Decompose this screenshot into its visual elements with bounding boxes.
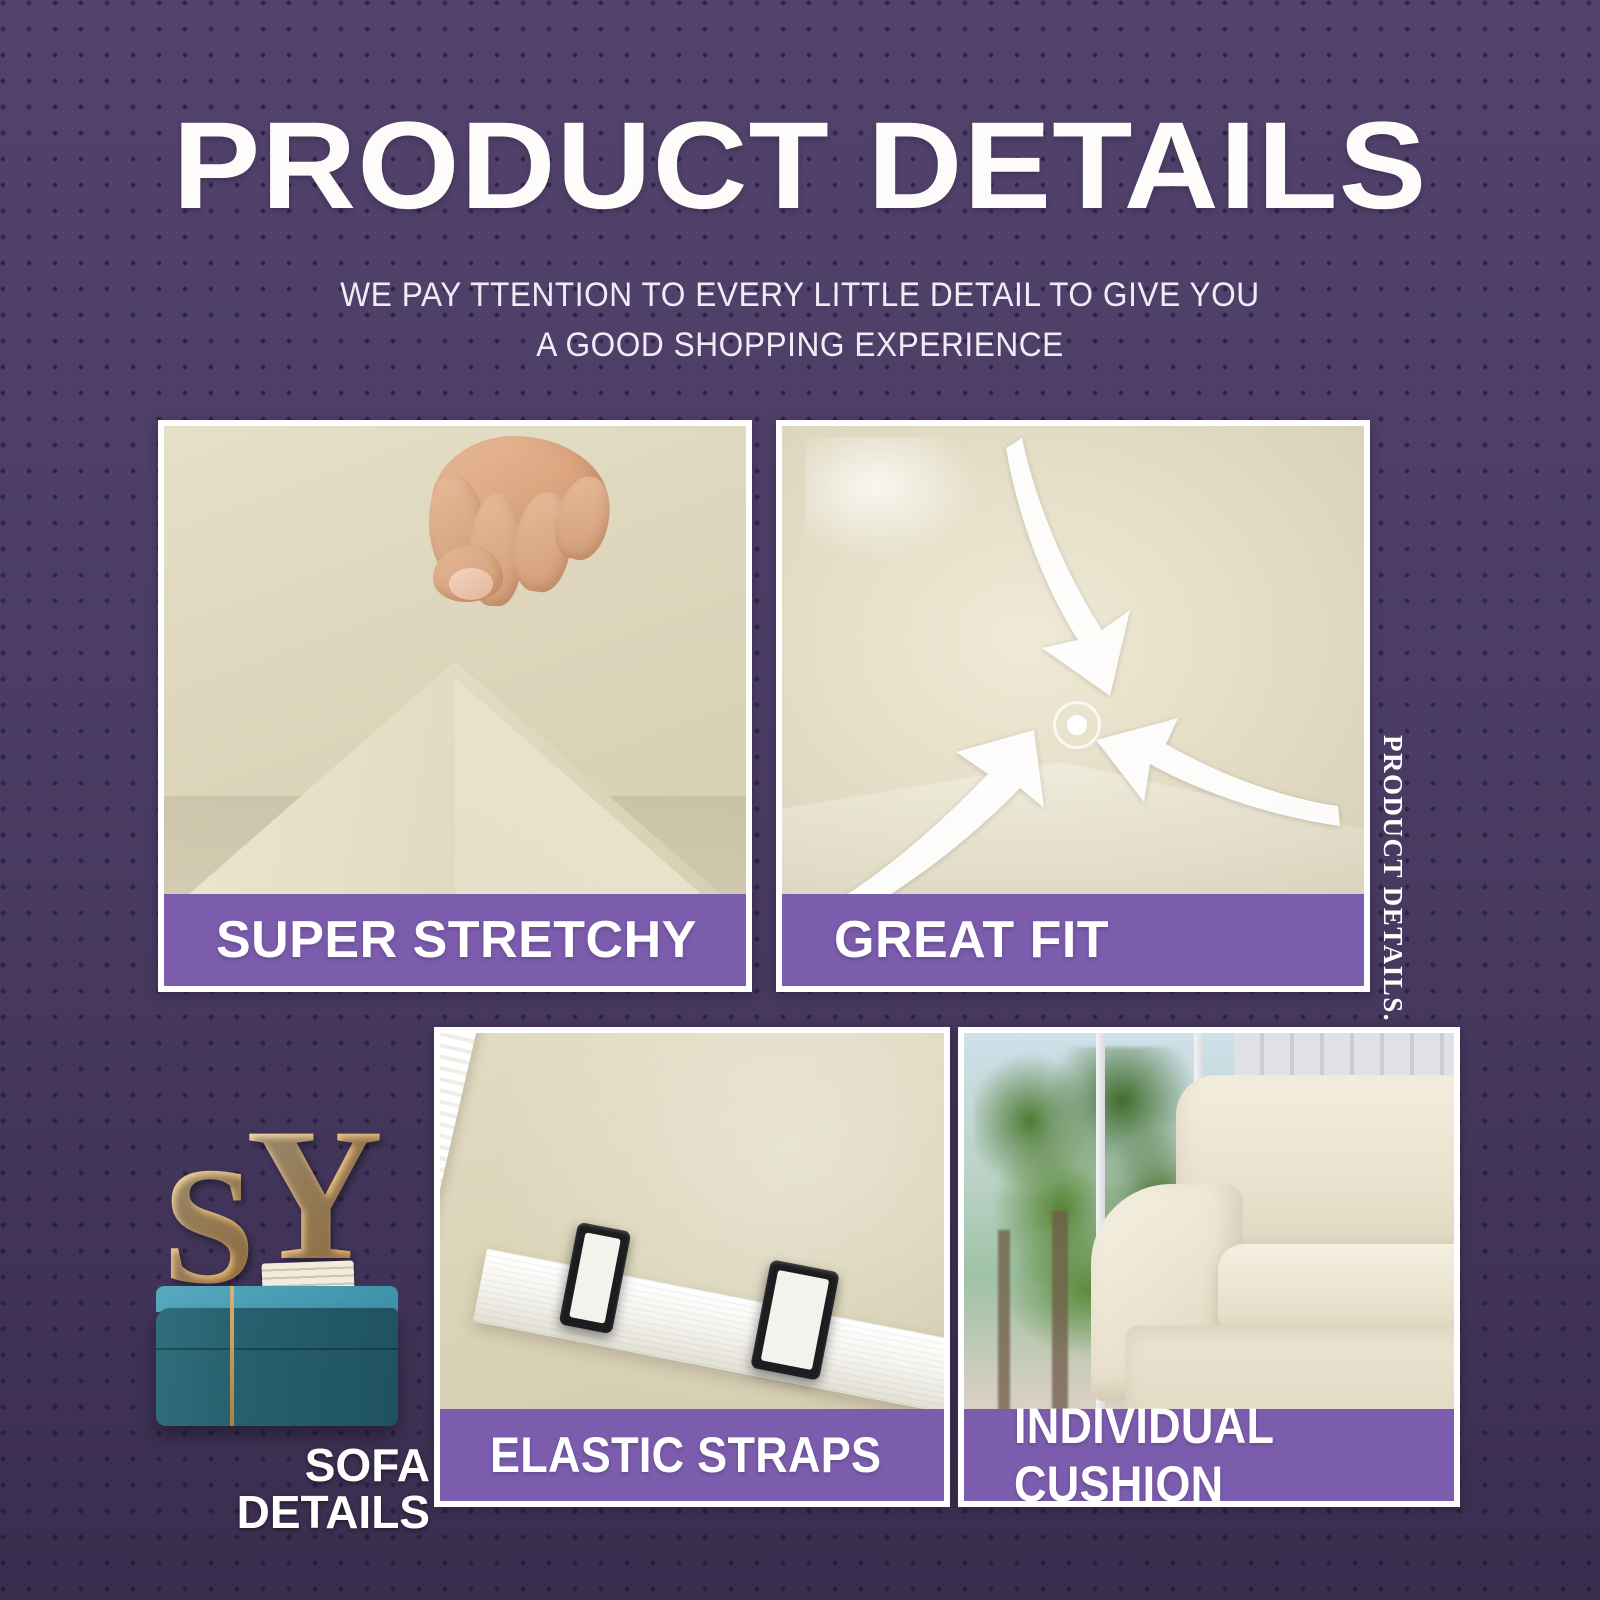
- panel-inner: INDIVIDUAL CUSHION: [964, 1033, 1454, 1501]
- caption-text: ELASTIC STRAPS: [490, 1426, 881, 1484]
- cushion-button-icon: [1053, 701, 1101, 749]
- subtitle-line-2: A GOOD SHOPPING EXPERIENCE: [56, 320, 1544, 370]
- caption-text: INDIVIDUAL CUSHION: [1014, 1397, 1410, 1501]
- panel-inner: GREAT FIT: [782, 426, 1364, 986]
- caption-individual-cushion: INDIVIDUAL CUSHION: [964, 1409, 1454, 1501]
- panel-elastic-straps[interactable]: ELASTIC STRAPS: [434, 1027, 950, 1507]
- hand-icon: [419, 436, 619, 621]
- infographic-canvas: PRODUCT DETAILS WE PAY TTENTION TO EVERY…: [0, 0, 1600, 1600]
- caption-text: GREAT FIT: [834, 910, 1109, 970]
- logo-tagline: SOFA DETAILS: [150, 1442, 440, 1536]
- logo-tagline-line-1: SOFA: [150, 1442, 430, 1489]
- caption-great-fit: GREAT FIT: [782, 894, 1364, 986]
- arrow-down-icon: [970, 434, 1150, 734]
- panel-individual-cushion[interactable]: INDIVIDUAL CUSHION: [958, 1027, 1460, 1507]
- page-subtitle: WE PAY TTENTION TO EVERY LITTLE DETAIL T…: [56, 270, 1544, 371]
- caption-text: SUPER STRETCHY: [216, 910, 697, 970]
- logo-tagline-line-2: DETAILS: [150, 1489, 430, 1536]
- panel-great-fit[interactable]: GREAT FIT: [776, 420, 1370, 992]
- panel-inner: ELASTIC STRAPS: [440, 1033, 944, 1501]
- nightstand-graphic: [156, 1286, 398, 1426]
- arrow-left-icon: [1074, 710, 1344, 830]
- logo-letter-s: S: [162, 1142, 255, 1310]
- caption-elastic-straps: ELASTIC STRAPS: [440, 1409, 944, 1501]
- brand-logo: S Y SOFA DETAILS: [150, 1090, 440, 1520]
- panel-inner: SUPER STRETCHY: [164, 426, 746, 986]
- panel-super-stretchy[interactable]: SUPER STRETCHY: [158, 420, 752, 992]
- subtitle-line-1: WE PAY TTENTION TO EVERY LITTLE DETAIL T…: [56, 270, 1544, 320]
- side-vertical-label: PRODUCT DETAILS.: [1377, 735, 1408, 1022]
- caption-super-stretchy: SUPER STRETCHY: [164, 894, 746, 986]
- page-title: PRODUCT DETAILS: [0, 104, 1600, 228]
